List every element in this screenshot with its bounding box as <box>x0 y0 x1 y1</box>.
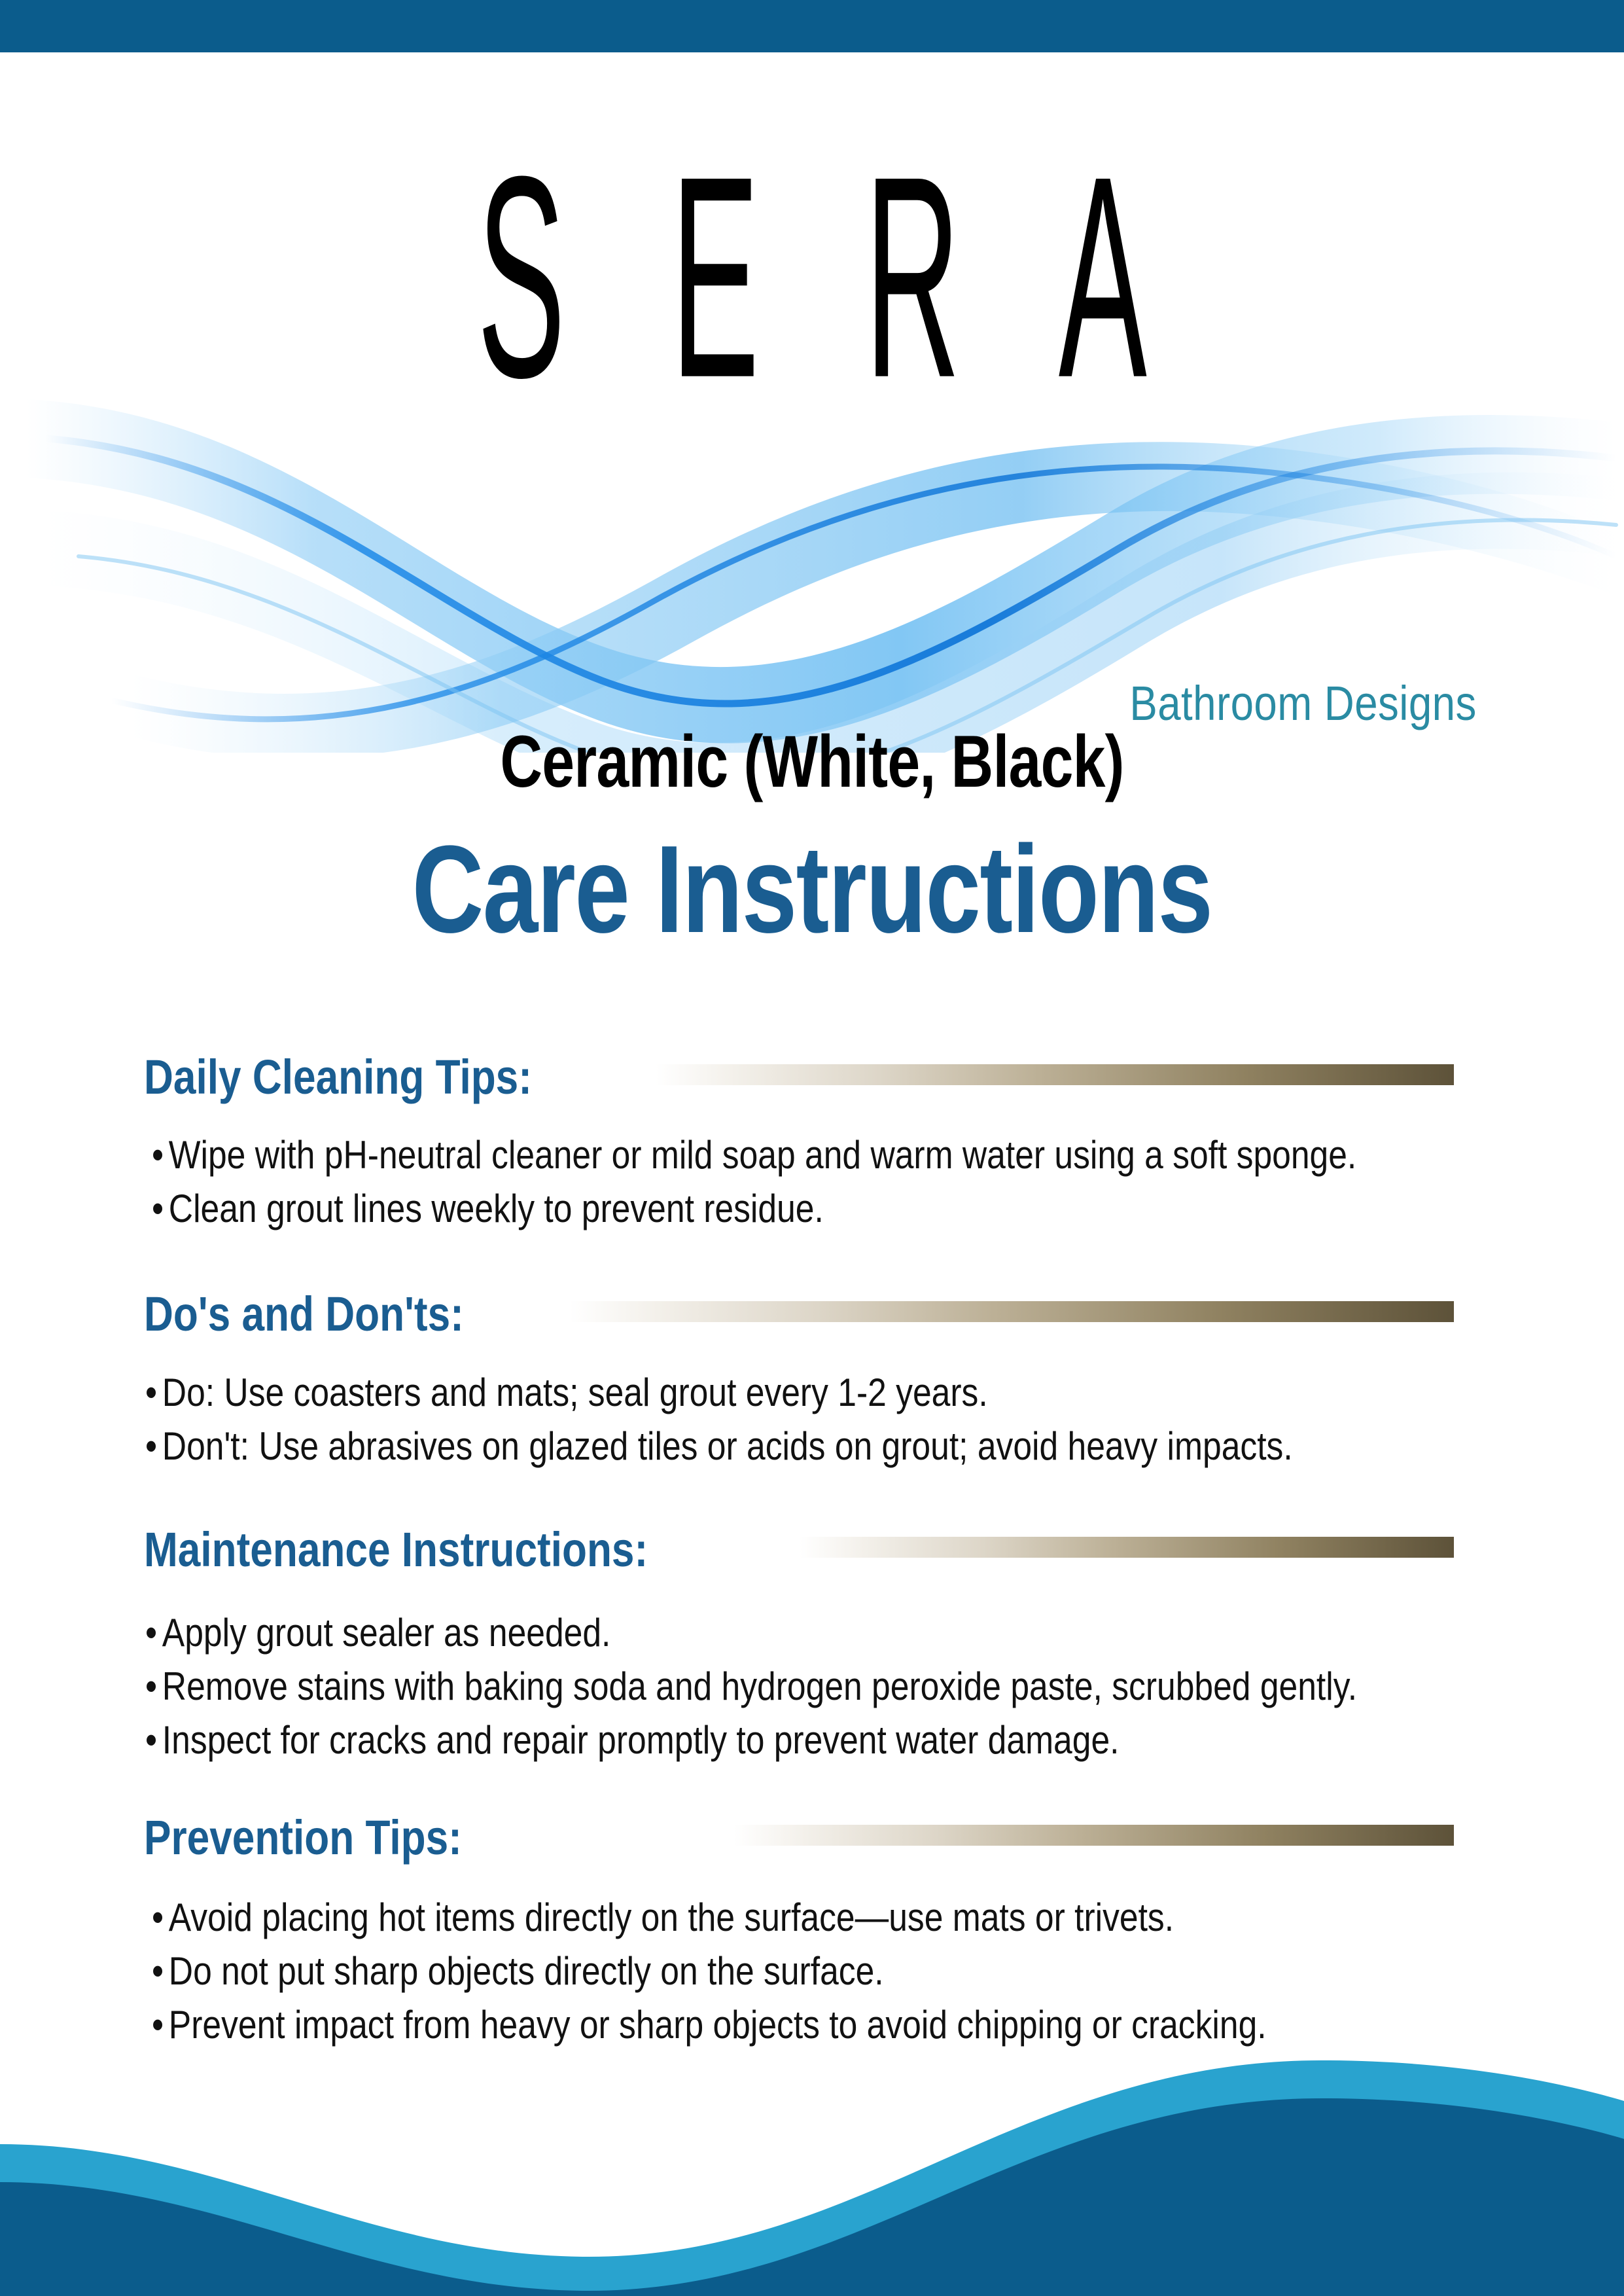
brand-tagline: Bathroom Designs <box>1130 675 1477 731</box>
section-divider-bar <box>569 1301 1454 1322</box>
bullet-item: •Avoid placing hot items directly on the… <box>152 1898 1174 1937</box>
bullet-text: Do not put sharp objects directly on the… <box>169 1949 884 1993</box>
bullet-dot-icon: • <box>145 1373 162 1412</box>
bullet-dot-icon: • <box>152 1898 169 1937</box>
section-2: Do's and Don'ts: <box>0 1284 1624 1350</box>
bullet-item: •Don't: Use abrasives on glazed tiles or… <box>145 1427 1293 1466</box>
bullet-dot-icon: • <box>152 1189 169 1229</box>
bullet-text: Do: Use coasters and mats; seal grout ev… <box>162 1371 988 1414</box>
footer-wave-graphic <box>0 2021 1624 2296</box>
bullet-item: •Wipe with pH-neutral cleaner or mild so… <box>152 1136 1356 1175</box>
section-heading: Maintenance Instructions: <box>144 1520 648 1580</box>
bullet-text: Apply grout sealer as needed. <box>162 1611 611 1655</box>
bullet-dot-icon: • <box>152 1136 169 1175</box>
section-divider-bar <box>800 1537 1454 1558</box>
section-1: Daily Cleaning Tips: <box>0 1047 1624 1113</box>
bullet-text: Wipe with pH-neutral cleaner or mild soa… <box>169 1133 1356 1177</box>
section-divider-bar <box>734 1825 1454 1846</box>
page-title: Care Instructions <box>162 827 1462 952</box>
bullet-text: Don't: Use abrasives on glazed tiles or … <box>162 1424 1293 1468</box>
bullet-item: •Apply grout sealer as needed. <box>145 1613 610 1653</box>
bullet-dot-icon: • <box>145 1667 162 1706</box>
bullet-text: Inspect for cracks and repair promptly t… <box>162 1718 1120 1762</box>
product-subtitle: Ceramic (White, Black) <box>162 725 1462 798</box>
top-accent-bar <box>0 0 1624 52</box>
bullet-item: •Remove stains with baking soda and hydr… <box>145 1667 1357 1706</box>
section-heading: Prevention Tips: <box>144 1808 462 1868</box>
brand-header: S E R A <box>0 52 1624 707</box>
bullet-item: •Clean grout lines weekly to prevent res… <box>152 1189 824 1229</box>
section-header: Prevention Tips: <box>0 1808 1624 1873</box>
section-header: Daily Cleaning Tips: <box>0 1047 1624 1113</box>
bullet-item: •Do not put sharp objects directly on th… <box>152 1952 884 1991</box>
bullet-item: •Do: Use coasters and mats; seal grout e… <box>145 1373 988 1412</box>
section-header: Maintenance Instructions: <box>0 1520 1624 1585</box>
bullet-text: Avoid placing hot items directly on the … <box>169 1895 1174 1939</box>
section-divider-bar <box>656 1064 1454 1085</box>
section-heading: Do's and Don'ts: <box>144 1284 464 1344</box>
bullet-item: •Inspect for cracks and repair promptly … <box>145 1721 1119 1760</box>
bullet-text: Clean grout lines weekly to prevent resi… <box>169 1187 824 1230</box>
section-3: Maintenance Instructions: <box>0 1520 1624 1585</box>
section-header: Do's and Don'ts: <box>0 1284 1624 1350</box>
bullet-dot-icon: • <box>152 1952 169 1991</box>
bullet-dot-icon: • <box>145 1613 162 1653</box>
section-4: Prevention Tips: <box>0 1808 1624 1873</box>
poster-page: S E R A <box>0 0 1624 2296</box>
bullet-dot-icon: • <box>145 1427 162 1466</box>
bullet-text: Remove stains with baking soda and hydro… <box>162 1664 1357 1708</box>
section-heading: Daily Cleaning Tips: <box>144 1047 532 1107</box>
bullet-dot-icon: • <box>145 1721 162 1760</box>
